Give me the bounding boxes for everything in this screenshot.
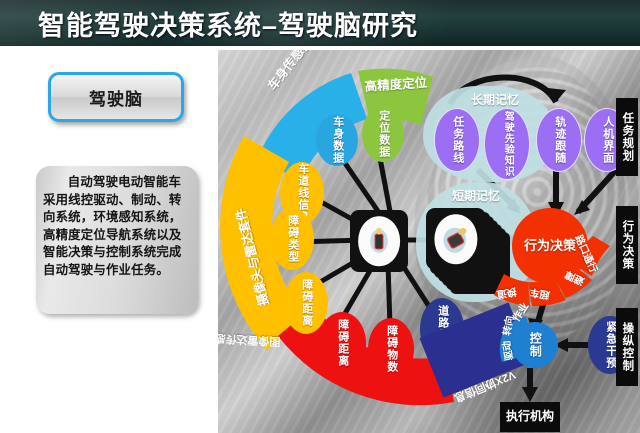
page-title: 智能驾驶决策系统–驾驶脑研究	[38, 4, 418, 43]
emergency-intervention-label: 紧急干预	[604, 321, 616, 369]
slide-root: 智能驾驶决策系统–驾驶脑研究 驾驶脑 自动驾驶电动智能车采用线控驱动、制动、转向…	[0, 0, 640, 433]
diagram-stage: 车身传感器 高精度定位 摄像头与雷达套件 图像雷达传感器与三维激光雷达 车身数据	[218, 50, 640, 433]
description-card: 自动驾驶电动智能车采用线控驱动、制动、转向系统，环境感知系统，高精度定位导航系统…	[36, 166, 198, 314]
stage-behavior-decide: 行为决策	[616, 206, 638, 284]
title-bar: 智能驾驶决策系统–驾驶脑研究	[0, 0, 640, 46]
stage-actuator: 执行机构	[500, 402, 560, 432]
stage-task-planning: 任务规划	[616, 98, 638, 176]
control-center: 控制	[512, 322, 558, 368]
control-arc-label-2: 驱动	[498, 340, 516, 362]
stage-actuator-label: 执行机构	[506, 410, 554, 423]
stage-manipulation-label: 操纵控制	[621, 322, 634, 372]
driving-brain-label: 驾驶脑	[89, 85, 143, 110]
stage-task-planning-label: 任务规划	[621, 112, 634, 162]
stage-behavior-decide-label: 行为决策	[621, 220, 634, 270]
description-text: 自动驾驶电动智能车采用线控驱动、制动、转向系统，环境感知系统，高精度定位导航系统…	[43, 174, 191, 280]
stage-manipulation: 操纵控制	[616, 308, 638, 386]
control-center-label: 控制	[529, 332, 542, 358]
driving-brain-badge: 驾驶脑	[48, 72, 184, 122]
control-arc-group	[218, 50, 640, 433]
